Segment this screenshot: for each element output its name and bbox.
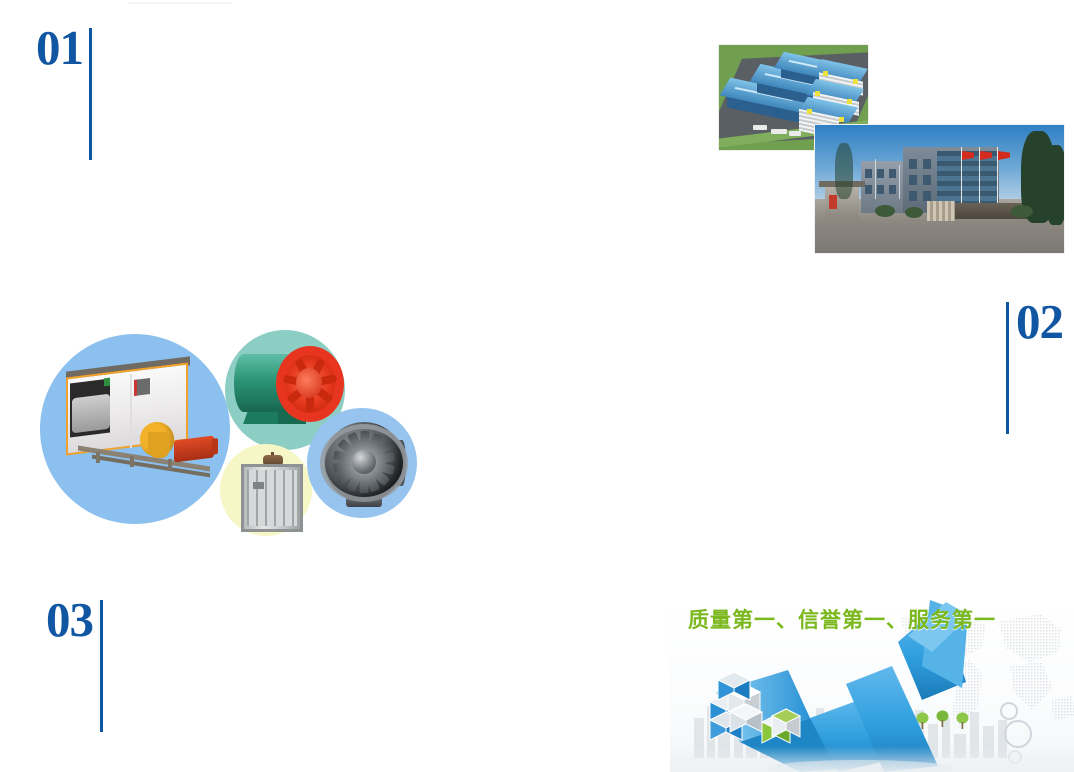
tree-icon [916, 712, 929, 729]
office-building-photo-image [814, 124, 1065, 254]
metal-axial-fan-image [316, 418, 412, 510]
section-marker-03: 03 [46, 598, 103, 732]
section-marker-01: 01 [36, 26, 92, 160]
decorative-circle [1000, 702, 1018, 720]
cabinet-centrifugal-fan-image [56, 360, 216, 490]
air-damper-unit-image [241, 452, 303, 534]
product-image-cluster [32, 312, 432, 562]
company-slogan-banner-image: 质量第一、信誉第一、服务第一 [670, 596, 1074, 772]
section-number-02: 02 [1016, 300, 1063, 344]
section-number-03: 03 [46, 598, 93, 642]
section-number-01: 01 [36, 26, 83, 70]
decorative-circle [1004, 720, 1032, 748]
section-marker-02: 02 [1006, 300, 1063, 434]
top-hairline [128, 2, 232, 4]
section-rule-02 [1006, 302, 1009, 434]
section-rule-03 [100, 600, 103, 732]
section-rule-01 [89, 28, 92, 160]
slogan-text: 质量第一、信誉第一、服务第一 [688, 604, 996, 634]
tree-icon [936, 710, 949, 727]
tree-icon [956, 712, 969, 729]
page-canvas: 01 02 03 [0, 0, 1074, 772]
